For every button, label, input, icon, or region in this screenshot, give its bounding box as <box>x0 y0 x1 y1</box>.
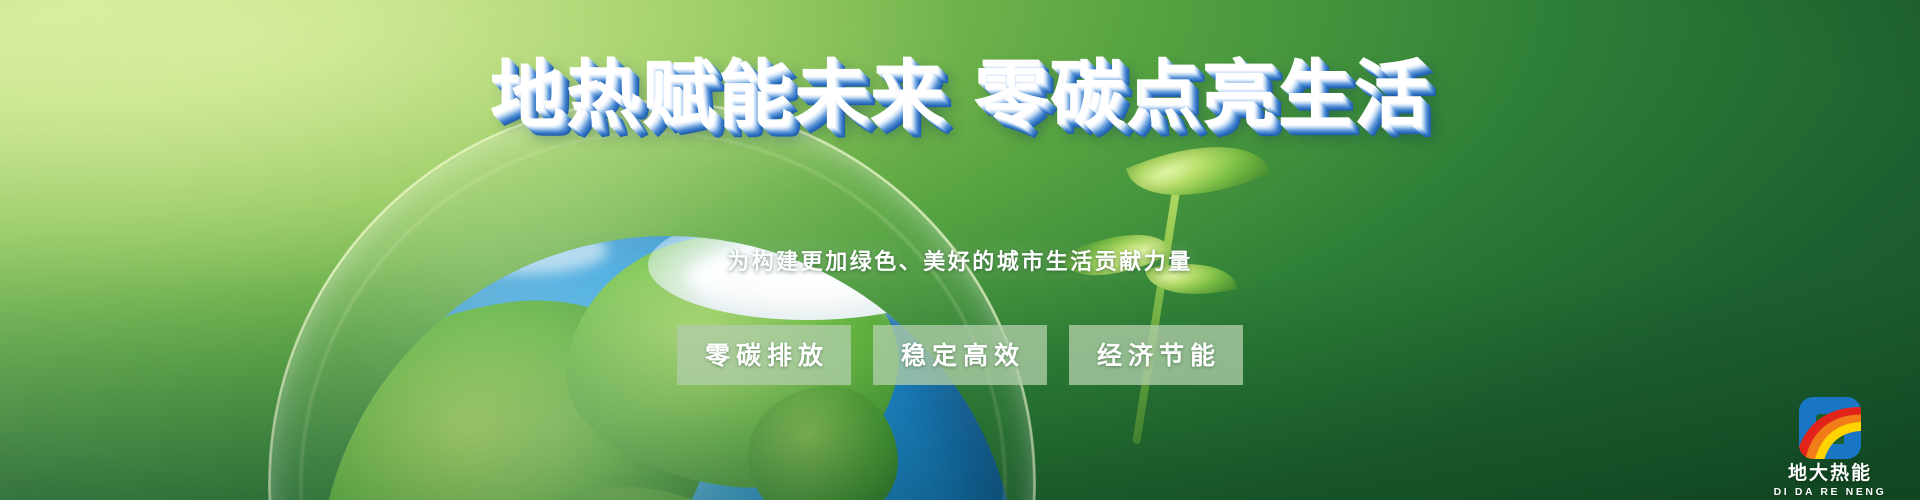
banner-headline: 地热赋能未来 零碳点亮生活 <box>0 56 1920 134</box>
banner-content: 地热赋能未来 零碳点亮生活 为构建更加绿色、美好的城市生活贡献力量 零碳排放 稳… <box>0 0 1920 500</box>
banner-subheadline: 为构建更加绿色、美好的城市生活贡献力量 <box>0 244 1920 276</box>
feature-badge-stable-efficient[interactable]: 稳定高效 <box>873 325 1047 385</box>
feature-badge-economical[interactable]: 经济节能 <box>1069 325 1243 385</box>
rainbow-arc-icon <box>1799 403 1861 459</box>
feature-badge-list: 零碳排放 稳定高效 经济节能 <box>0 325 1920 385</box>
logo-name-cn: 地大热能 <box>1768 463 1892 484</box>
feature-badge-zero-carbon[interactable]: 零碳排放 <box>677 325 851 385</box>
promo-banner: 地热赋能未来 零碳点亮生活 为构建更加绿色、美好的城市生活贡献力量 零碳排放 稳… <box>0 0 1920 500</box>
company-logo[interactable]: 地大热能 DI DA RE NENG <box>1768 397 1892 498</box>
logo-name-en: DI DA RE NENG <box>1768 486 1892 498</box>
logo-mark-icon <box>1799 397 1861 459</box>
